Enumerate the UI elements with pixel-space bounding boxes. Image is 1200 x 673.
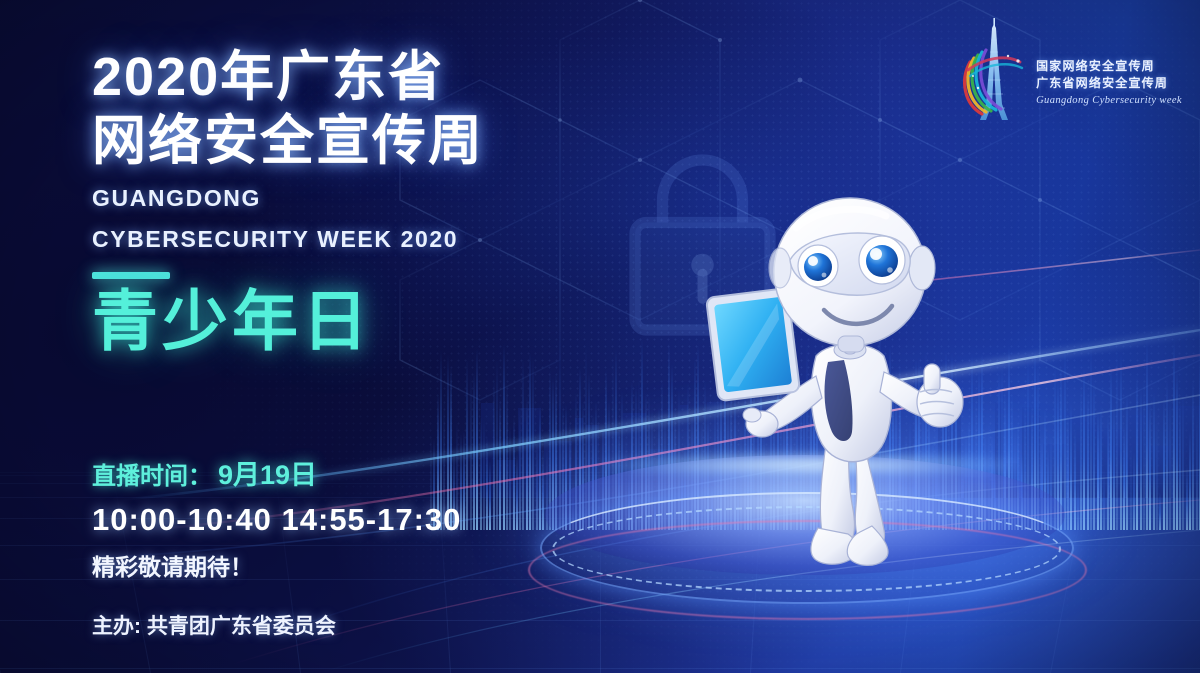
schedule-label: 直播时间：	[92, 463, 212, 490]
event-headline: 青少年日	[92, 285, 612, 358]
schedule-date: 9月19日	[218, 460, 317, 490]
schedule-note: 精彩敬请期待！	[92, 548, 612, 582]
logo-cn-line-1: 国家网络安全宣传周	[1036, 58, 1182, 75]
cybersecurity-week-logo: 国家网络安全宣传周 广东省网络安全宣传周 Guangdong Cybersecu…	[958, 18, 1182, 126]
schedule-date-row: 直播时间：9月19日	[92, 455, 612, 496]
canton-tower-ribbon-logo-icon	[958, 18, 1028, 126]
schedule-block: 直播时间：9月19日 10:00-10:40 14:55-17:30 精彩敬请期…	[92, 455, 612, 582]
logo-en-line: Guangdong Cybersecurity week	[1036, 93, 1182, 108]
headline-block: 2020年广东省 网络安全宣传周 GUANGDONG CYBERSECURITY…	[92, 46, 612, 358]
logo-text-block: 国家网络安全宣传周 广东省网络安全宣传周 Guangdong Cybersecu…	[1036, 36, 1182, 108]
title-line-1: 2020年广东省	[92, 46, 612, 110]
logo-cn-line-2: 广东省网络安全宣传周	[1036, 75, 1182, 92]
cyan-divider	[92, 272, 170, 279]
schedule-times: 10:00-10:40 14:55-17:30	[92, 502, 612, 538]
title-english-line-1: GUANGDONG	[92, 183, 612, 213]
poster-canvas: 2020年广东省 网络安全宣传周 GUANGDONG CYBERSECURITY…	[0, 0, 1200, 673]
title-line-2: 网络安全宣传周	[92, 110, 612, 174]
organizer-line: 主办: 共青团广东省委员会	[92, 610, 336, 640]
title-english-line-2: CYBERSECURITY WEEK 2020	[92, 224, 612, 254]
white-robot-mascot	[700, 190, 1000, 570]
